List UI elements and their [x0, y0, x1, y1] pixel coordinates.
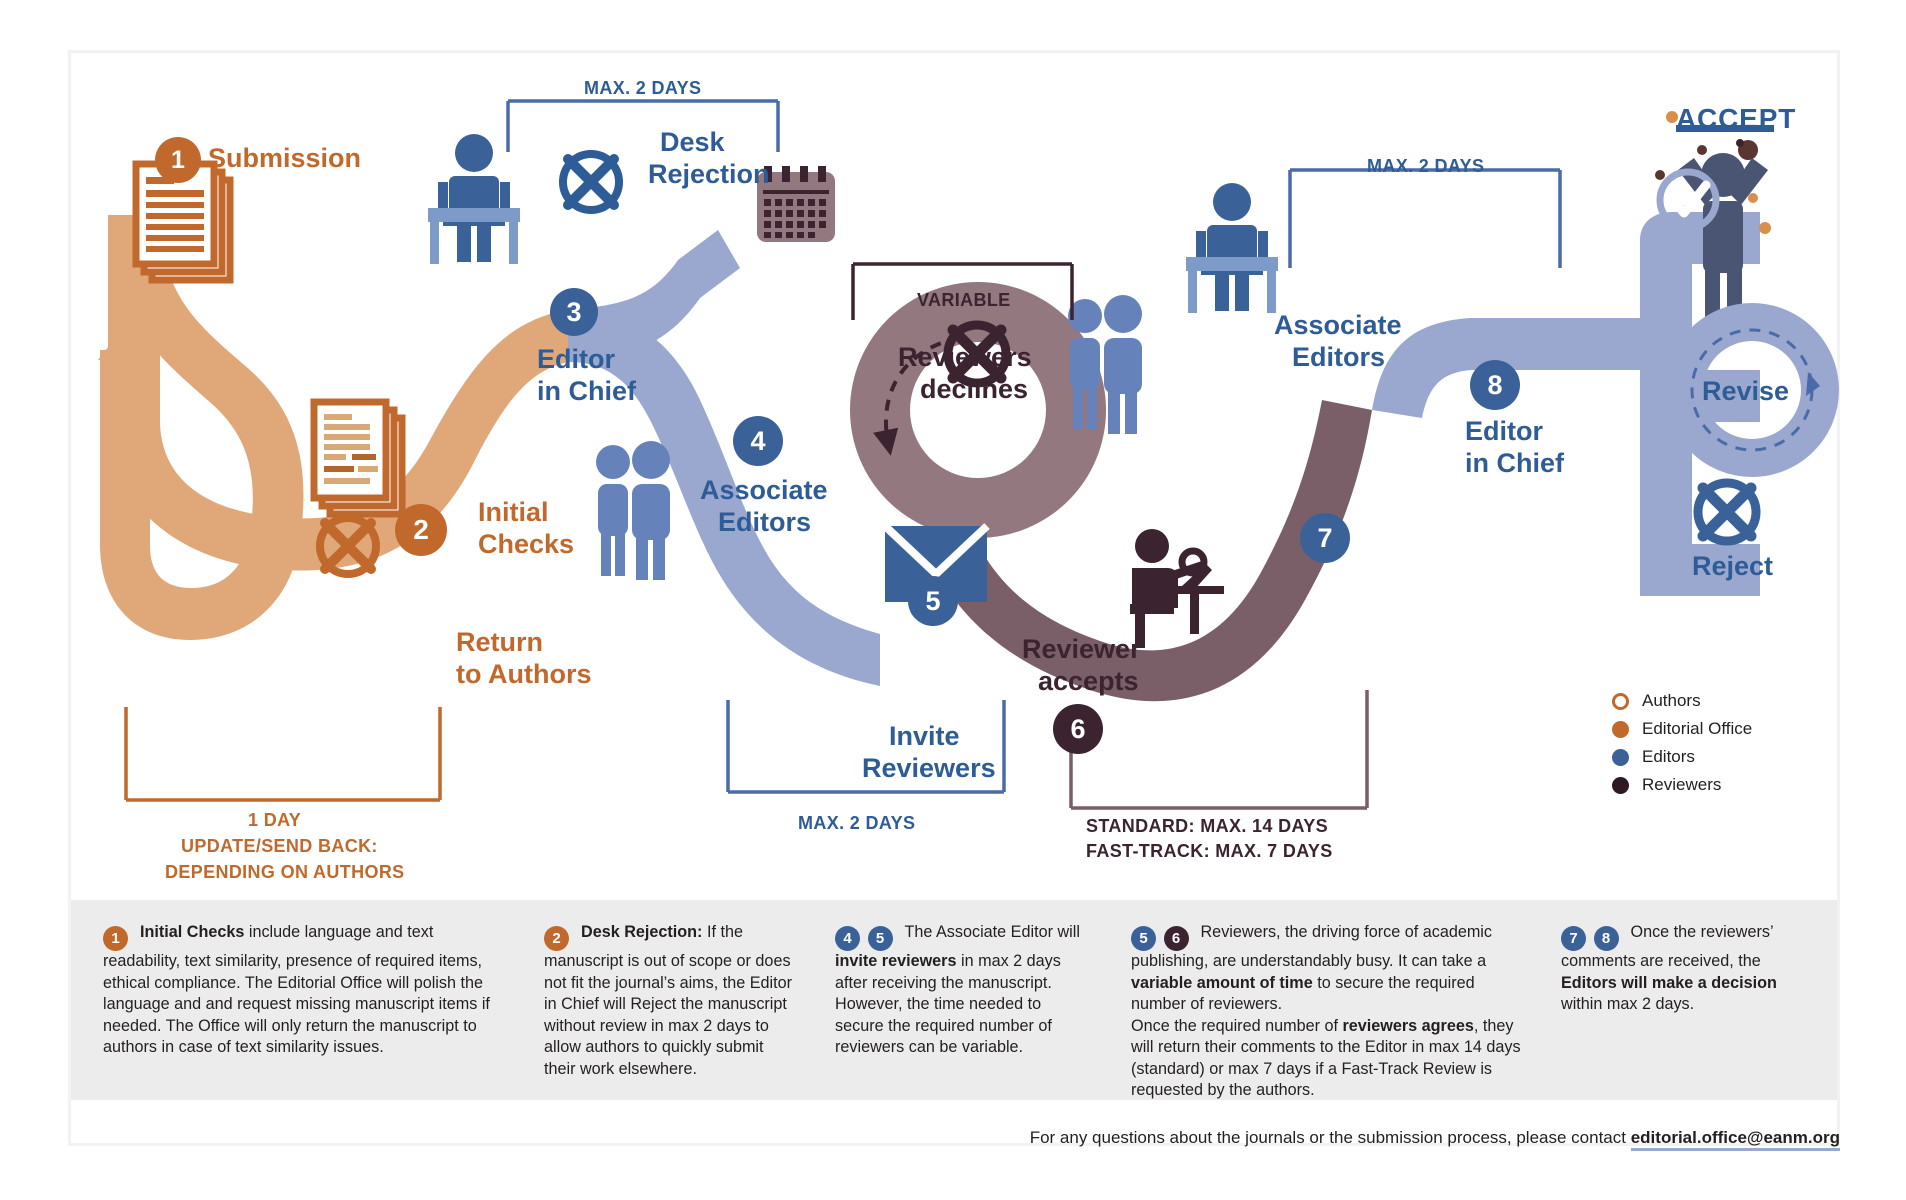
label-initial-checks-line1: Initial [478, 497, 549, 528]
bracket-review-duration [1071, 690, 1367, 808]
caption-one-day: 1 DAY [248, 810, 301, 831]
label-desk-rejection-line1: Desk [660, 127, 725, 158]
note-5: 7 8 Once the reviewers’ comments are rec… [1561, 922, 1813, 1016]
bracket-one-day [126, 707, 440, 800]
label-submission: Submission [208, 143, 361, 174]
initial-checks-docs-icon [314, 402, 402, 514]
label-associate-editors-line1: Associate [700, 475, 828, 506]
caption-max-2-days-right: MAX. 2 DAYS [1367, 156, 1484, 177]
legend-label-editors: Editors [1642, 747, 1695, 767]
step-number-7: 7 [1300, 513, 1350, 563]
legend-item-editors: Editors [1612, 746, 1752, 768]
bracket-max-2-days-left [508, 101, 778, 152]
note-1: 1 Initial Checks include language and te… [103, 922, 495, 1059]
label-reviewers-declines-line2: declines [920, 374, 1028, 405]
legend-item-authors: Authors [1612, 690, 1752, 712]
caption-max-2-days-left: MAX. 2 DAYS [584, 78, 701, 99]
footer: For any questions about the journals or … [0, 1128, 1840, 1148]
reviewer-at-laptop-icon [1130, 529, 1224, 648]
caption-update-send-back: UPDATE/SEND BACK: [181, 836, 378, 857]
note-badge: 5 [868, 926, 893, 951]
desk-rejection-cross-icon [563, 154, 619, 210]
label-reviewer-accepts-line1: Reviewer [1022, 634, 1141, 665]
label-editor-in-chief-line1: Editor [537, 344, 615, 375]
note-badge: 6 [1164, 926, 1189, 951]
label-associate-editors-line2: Editors [718, 507, 811, 538]
notes-band: 1 Initial Checks include language and te… [71, 900, 1837, 1100]
caption-standard-days: STANDARD: MAX. 14 DAYS [1086, 816, 1328, 837]
legend-dot-authors [1612, 693, 1629, 710]
label-desk-rejection-line2: Rejection [648, 159, 770, 190]
note-3: 4 5 The Associate Editor will invite rev… [835, 922, 1087, 1059]
label-return-to-authors-line1: Return [456, 627, 543, 658]
label-initial-checks-line2: Checks [478, 529, 574, 560]
footer-text: For any questions about the journals or … [1030, 1128, 1631, 1147]
label-associate-editors2-line1: Associate [1274, 310, 1402, 341]
label-associate-editors2-line2: Editors [1292, 342, 1385, 373]
step-number-4: 4 [733, 416, 783, 466]
step-number-2: 2 [395, 504, 447, 556]
editor-in-chief-desk-icon [1186, 183, 1278, 313]
editor-at-desk-icon [428, 134, 520, 264]
step-number-5: 5 [908, 576, 958, 626]
note-badge: 5 [1131, 926, 1156, 951]
bracket-max-2-days-right [1290, 170, 1560, 268]
label-revise: Revise [1702, 376, 1789, 407]
caption-max-2-days-invite: MAX. 2 DAYS [798, 813, 915, 834]
legend-item-editorial-office: Editorial Office [1612, 718, 1752, 740]
legend-label-reviewers: Reviewers [1642, 775, 1721, 795]
step-number-8: 8 [1470, 360, 1520, 410]
legend-label-editorial-office: Editorial Office [1642, 719, 1752, 739]
label-reject: Reject [1692, 551, 1773, 582]
note-badge: 8 [1594, 926, 1619, 951]
note-badge: 2 [544, 926, 569, 951]
reject-cross-icon [1698, 483, 1756, 541]
label-invite-reviewers-line2: Reviewers [862, 753, 996, 784]
label-reviewer-accepts-line2: accepts [1038, 666, 1139, 697]
legend-label-authors: Authors [1642, 691, 1701, 711]
legend-dot-reviewers [1612, 777, 1629, 794]
caption-depending-on-authors: DEPENDING ON AUTHORS [165, 862, 405, 883]
contact-email-link[interactable]: editorial.office@eanm.org [1631, 1128, 1840, 1151]
associate-editors-icon [596, 441, 670, 580]
reviewers-decline-loop [850, 282, 1106, 538]
caption-variable: VARIABLE [917, 290, 1011, 311]
step-number-6: 6 [1053, 704, 1103, 754]
label-editor-in-chief-line2: in Chief [537, 376, 636, 407]
step-number-3: 3 [550, 288, 598, 336]
note-4: 5 6 Reviewers, the driving force of acad… [1131, 922, 1523, 1102]
label-accept: ACCEPT [1676, 103, 1796, 135]
note-2: 2 Desk Rejection: If the manuscript is o… [544, 922, 796, 1080]
label-return-to-authors-line2: to Authors [456, 659, 591, 690]
legend-dot-editors [1612, 749, 1629, 766]
note-badge: 1 [103, 926, 128, 951]
label-reviewers-declines-line1: Reviewers [898, 342, 1032, 373]
note-badge: 7 [1561, 926, 1586, 951]
label-invite-reviewers-line1: Invite [889, 721, 960, 752]
note-badge: 4 [835, 926, 860, 951]
legend-item-reviewers: Reviewers [1612, 774, 1752, 796]
legend-dot-editorial-office [1612, 721, 1629, 738]
step-number-1: 1 [155, 137, 201, 183]
legend: Authors Editorial Office Editors Reviewe… [1612, 690, 1752, 802]
label-editor-in-chief2-line2: in Chief [1465, 448, 1564, 479]
caption-fasttrack-days: FAST-TRACK: MAX. 7 DAYS [1086, 841, 1333, 862]
label-editor-in-chief2-line1: Editor [1465, 416, 1543, 447]
